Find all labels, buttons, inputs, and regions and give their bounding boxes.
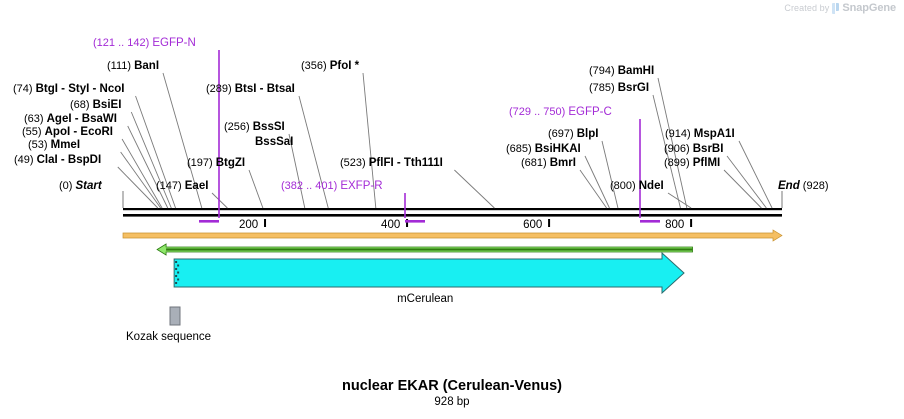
feature-left-cap-dot <box>175 261 177 263</box>
enzyme-position: (697) <box>548 128 574 140</box>
start-position: (0) <box>59 180 72 192</box>
enzyme-label-btsI[interactable]: (289) BtsI - BtsaI <box>206 84 295 95</box>
primer-name: EXFP-R <box>340 180 382 192</box>
sequence-length: 928 bp <box>0 395 904 409</box>
enzyme-label-bsiHKAI[interactable]: (685) BsiHKAI <box>506 144 581 155</box>
enzyme-name: PfoI * <box>330 60 359 72</box>
feature-left-cap-dot <box>175 268 177 270</box>
enzyme-name: BsrBI <box>693 143 724 155</box>
primer-bar-exfp-r[interactable] <box>405 220 425 223</box>
sequence-end-marker: End (928) <box>778 181 828 192</box>
enzyme-position: (800) <box>610 180 636 192</box>
ruler-tick-label: 800 <box>665 219 684 231</box>
feature-mcerulean[interactable] <box>174 253 684 293</box>
primer-name: EGFP-N <box>152 37 195 49</box>
ruler-tick-label: 600 <box>523 219 542 231</box>
ruler-tick-label: 200 <box>239 219 258 231</box>
enzyme-leader-line <box>122 139 162 208</box>
feature-left-cap-dot <box>177 272 179 274</box>
ruler-tick-label: 400 <box>381 219 400 231</box>
ruler-tick <box>264 219 266 227</box>
primer-range: (121 .. 142) <box>93 37 149 49</box>
enzyme-position: (111) <box>107 60 131 72</box>
enzyme-position: (785) <box>589 82 615 94</box>
enzyme-label-pflFI[interactable]: (523) PflFI - Tth111I <box>340 158 443 169</box>
primer-bar-egfp-n[interactable] <box>199 220 219 223</box>
enzyme-label-bssSaI[interactable]: BssSaI <box>255 137 293 148</box>
enzyme-name: AgeI - BsaWI <box>47 113 117 125</box>
enzyme-label-apoI[interactable]: (55) ApoI - EcoRI <box>22 127 113 138</box>
enzyme-position: (53) <box>28 139 48 151</box>
backbone-line-bottom <box>123 214 782 217</box>
enzyme-name: BlpI <box>577 128 599 140</box>
enzyme-leader-line <box>131 112 171 208</box>
enzyme-position: (289) <box>206 83 232 95</box>
enzyme-position: (68) <box>70 99 90 111</box>
enzyme-label-eaeI[interactable]: (147) EaeI <box>156 181 208 192</box>
feature-caption-mcerulean: mCerulean <box>397 293 453 305</box>
kozak-sequence-label: Kozak sequence <box>126 331 211 343</box>
enzyme-position: (914) <box>665 128 691 140</box>
enzyme-label-bsrGI[interactable]: (785) BsrGI <box>589 83 649 94</box>
enzyme-position: (55) <box>22 126 42 138</box>
enzyme-label-btgI[interactable]: (74) BtgI - StyI - NcoI <box>13 84 124 95</box>
enzyme-name: BsrGI <box>618 82 649 94</box>
sequence-title-block: nuclear EKAR (Cerulean-Venus) 928 bp <box>0 378 904 409</box>
enzyme-label-bssSI[interactable]: (256) BssSI <box>224 122 285 133</box>
enzyme-position: (685) <box>506 143 532 155</box>
enzyme-name: BtgZI <box>216 157 245 169</box>
enzyme-name: BtsI - BtsaI <box>235 83 295 95</box>
primer-label-egfp-c[interactable]: (729 .. 750) EGFP-C <box>509 107 612 118</box>
enzyme-leader-line <box>454 170 494 208</box>
enzyme-position: (356) <box>301 60 327 72</box>
enzyme-leader-line <box>121 152 161 208</box>
enzyme-name: MmeI <box>51 139 80 151</box>
feature-orf-backbone[interactable] <box>123 230 782 241</box>
enzyme-leader-line <box>249 170 263 208</box>
feature-left-cap-dot <box>175 275 177 277</box>
enzyme-name: BamHI <box>618 65 654 77</box>
enzyme-position: (256) <box>224 121 250 133</box>
enzyme-label-bsrBI[interactable]: (906) BsrBI <box>664 144 723 155</box>
enzyme-name: ApoI - EcoRI <box>45 126 113 138</box>
enzyme-name: BsiHKAI <box>535 143 581 155</box>
primer-label-exfp-r[interactable]: (382 .. 401) EXFP-R <box>281 181 383 192</box>
ruler-tick <box>548 219 550 227</box>
enzyme-name: BsiEI <box>93 99 122 111</box>
enzyme-position: (899) <box>664 157 690 169</box>
kozak-sequence-box[interactable] <box>170 307 180 325</box>
enzyme-leader-line <box>580 170 607 208</box>
enzyme-name: BanI <box>134 60 159 72</box>
enzyme-name: PflMI <box>693 157 720 169</box>
enzyme-position: (523) <box>340 157 366 169</box>
primer-range: (382 .. 401) <box>281 180 337 192</box>
enzyme-name: BmrI <box>550 157 576 169</box>
feature-left-cap-dot <box>175 282 177 284</box>
enzyme-leader-line <box>727 156 766 208</box>
feature-left-cap-dot <box>177 279 179 281</box>
primer-label-egfp-n[interactable]: (121 .. 142) EGFP-N <box>93 38 196 49</box>
backbone-line-top <box>123 208 782 210</box>
enzyme-name: BssSI <box>253 121 285 133</box>
end-label: End <box>778 180 800 192</box>
enzyme-name: PflFI - Tth111I <box>369 157 443 169</box>
enzyme-label-blpI[interactable]: (697) BlpI <box>548 129 598 140</box>
start-label: Start <box>76 180 102 192</box>
enzyme-label-mspA1I[interactable]: (914) MspA1I <box>665 129 735 140</box>
primer-name: EGFP-C <box>568 106 611 118</box>
end-position: (928) <box>803 180 829 192</box>
enzyme-position: (794) <box>589 65 615 77</box>
enzyme-position: (49) <box>14 154 34 166</box>
enzyme-label-bsiEI[interactable]: (68) BsiEI <box>70 100 121 111</box>
primer-range: (729 .. 750) <box>509 106 565 118</box>
enzyme-label-bmrI[interactable]: (681) BmrI <box>521 158 576 169</box>
enzyme-leader-line <box>739 141 772 208</box>
feature-left-cap-dot <box>177 265 179 267</box>
enzyme-position: (197) <box>187 157 213 169</box>
enzyme-position: (681) <box>521 157 547 169</box>
enzyme-label-mmeI[interactable]: (53) MmeI <box>28 140 80 151</box>
enzyme-position: (906) <box>664 143 690 155</box>
enzyme-label-banI[interactable]: (111) BanI <box>107 61 159 72</box>
enzyme-label-bamHI[interactable]: (794) BamHI <box>589 66 654 77</box>
enzyme-label-pflMI[interactable]: (899) PflMI <box>664 158 720 169</box>
enzyme-name: BssSaI <box>255 136 293 148</box>
enzyme-position: (63) <box>24 113 44 125</box>
enzyme-label-ageI[interactable]: (63) AgeI - BsaWI <box>24 114 117 125</box>
enzyme-name: EaeI <box>185 180 209 192</box>
enzyme-name: ClaI - BspDI <box>37 154 102 166</box>
enzyme-label-ndeI[interactable]: (800) NdeI <box>610 181 664 192</box>
sequence-start-marker: (0) Start <box>59 181 102 192</box>
enzyme-label-pfoI[interactable]: (356) PfoI * <box>301 61 359 72</box>
primer-bar-egfp-c[interactable] <box>640 220 660 223</box>
feature-green-track-shaft <box>166 248 692 250</box>
enzyme-name: NdeI <box>639 180 664 192</box>
page-title: nuclear EKAR (Cerulean-Venus) <box>0 378 904 395</box>
enzyme-leader-line <box>128 126 168 208</box>
enzyme-leader-line <box>118 167 158 208</box>
ruler-tick <box>690 219 692 227</box>
enzyme-label-btgZI[interactable]: (197) BtgZI <box>187 158 245 169</box>
enzyme-name: MspA1I <box>694 128 735 140</box>
enzyme-name: BtgI - StyI - NcoI <box>36 83 125 95</box>
enzyme-label-claI[interactable]: (49) ClaI - BspDI <box>14 155 101 166</box>
enzyme-position: (147) <box>156 180 182 192</box>
enzyme-position: (74) <box>13 83 33 95</box>
